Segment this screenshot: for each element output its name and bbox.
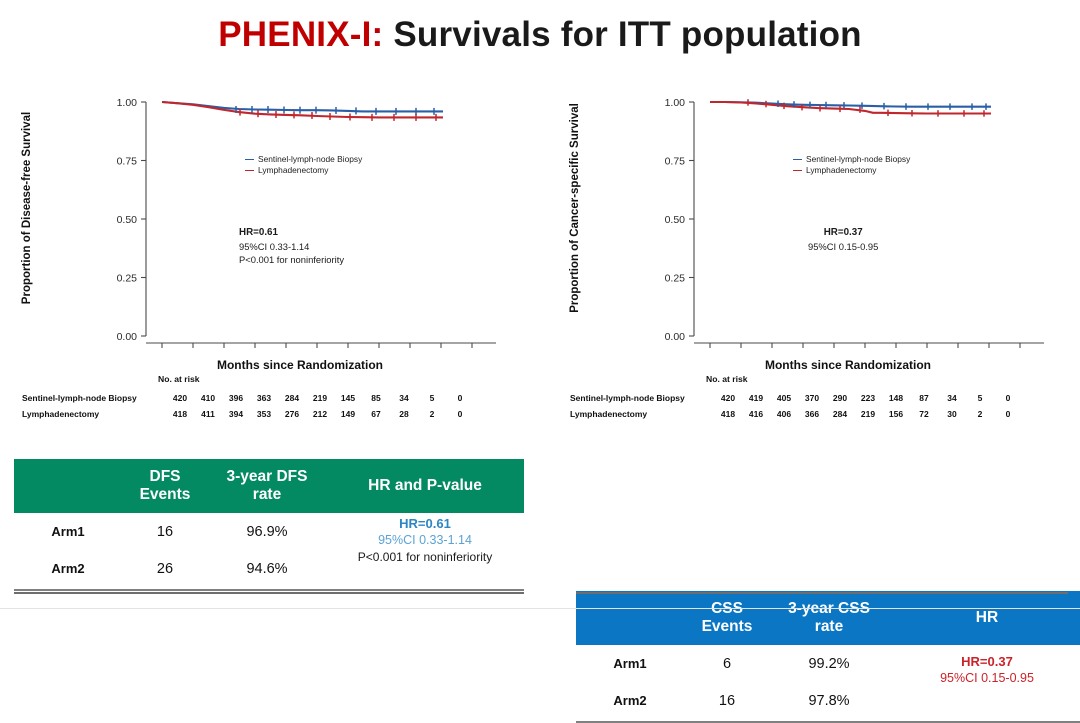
dfs-row1-rate: 96.9% [208,524,326,540]
css-legend-label-lymph: Lymphadenectomy [806,165,876,176]
risk-cell: 223 [854,390,882,406]
risk-cell: 149 [334,406,362,422]
css-legend-item-biopsy: Sentinel-lymph-node Biopsy [793,154,910,165]
risk-cell: 28 [390,406,418,422]
risk-cell: 219 [306,390,334,406]
risk-cell: 276 [278,406,306,422]
css-risk-title: No. at risk [706,374,748,384]
risk-cell: 0 [994,390,1022,406]
risk-cell: 396 [222,390,250,406]
css-risk-row-label-lymph: Lymphadenectomy [570,406,714,422]
css-legend-item-lymph: Lymphadenectomy [793,165,910,176]
css-row2-arm: Arm2 [576,693,684,708]
risk-cell: 5 [418,390,446,406]
svg-text:1.00: 1.00 [665,97,686,109]
css-hr-annotation: HR=0.37 95%CI 0.15-0.95 [808,226,878,253]
dfs-km-plot: 1.00 0.75 0.50 0.25 0.00 0 12 [100,88,500,353]
dfs-row1-events: 16 [122,524,208,540]
dfs-header-rate: 3-year DFS rate [208,468,326,504]
css-row2-events: 16 [684,693,770,709]
dfs-stat-ci: 95%CI 0.33-1.14 [326,532,524,549]
dfs-table-bottom-rule [14,592,524,594]
table-row: Sentinel-lymph-node Biopsy 420 419 405 3… [570,390,1022,406]
svg-text:60: 60 [311,351,323,353]
css-row1-rate: 99.2% [770,656,888,672]
risk-cell: 419 [742,390,770,406]
svg-text:72: 72 [342,351,354,353]
svg-text:1.00: 1.00 [117,97,138,109]
dfs-stat-block: HR=0.61 95%CI 0.33-1.14 P<0.001 for noni… [326,515,524,566]
svg-text:60: 60 [859,351,871,353]
css-stat-hr: HR=0.37 [888,653,1080,670]
risk-cell: 418 [714,406,742,422]
svg-text:36: 36 [797,351,809,353]
risk-cell: 394 [222,406,250,422]
legend-dash-red-icon [793,170,802,171]
risk-cell: 353 [250,406,278,422]
svg-text:12: 12 [187,351,199,353]
dfs-legend-item-biopsy: Sentinel-lymph-node Biopsy [245,154,362,165]
svg-text:120: 120 [463,351,481,353]
dfs-y-axis-label: Proportion of Disease-free Survival [16,78,38,338]
dfs-risk-row-label-lymph: Lymphadenectomy [22,406,166,422]
css-legend-label-biopsy: Sentinel-lymph-node Biopsy [806,154,910,165]
dfs-annotation-p: P<0.001 for noninferiority [239,253,344,267]
panel-dfs: Proportion of Disease-free Survival 1.00… [8,78,528,450]
slide: PHENIX-I: Survivals for ITT population P… [0,0,1080,618]
slide-bottom-edge [0,608,1080,609]
dfs-row1-arm: Arm1 [14,524,122,539]
risk-cell: 420 [714,390,742,406]
svg-text:0.25: 0.25 [665,273,686,285]
svg-text:72: 72 [890,351,902,353]
risk-cell: 156 [882,406,910,422]
dfs-row2-arm: Arm2 [14,561,122,576]
risk-cell: 148 [882,390,910,406]
risk-cell: 85 [362,390,390,406]
risk-cell: 219 [854,406,882,422]
dfs-risk-row-label-biopsy: Sentinel-lymph-node Biopsy [22,390,166,406]
css-legend: Sentinel-lymph-node Biopsy Lymphadenecto… [793,154,910,176]
dfs-stat-p: P<0.001 for noninferiority [326,549,524,566]
svg-text:0.75: 0.75 [117,156,138,168]
risk-cell: 370 [798,390,826,406]
table-row: Lymphadenectomy 418 411 394 353 276 212 … [22,406,474,422]
risk-cell: 363 [250,390,278,406]
dfs-hr-annotation: HR=0.61 95%CI 0.33-1.14 P<0.001 for noni… [239,226,344,267]
dfs-legend-item-lymph: Lymphadenectomy [245,165,362,176]
risk-cell: 5 [966,390,994,406]
risk-cell: 0 [446,406,474,422]
dfs-row2-rate: 94.6% [208,561,326,577]
svg-text:0.00: 0.00 [117,331,138,343]
risk-cell: 72 [910,406,938,422]
svg-text:96: 96 [952,351,964,353]
risk-cell: 405 [770,390,798,406]
dfs-results-header: DFS Events 3-year DFS rate HR and P-valu… [14,459,524,513]
dfs-legend-label-biopsy: Sentinel-lymph-node Biopsy [258,154,362,165]
dfs-legend-label-lymph: Lymphadenectomy [258,165,328,176]
css-km-svg: 1.00 0.75 0.50 0.25 0.00 0 12 24 36 48 6… [648,88,1048,353]
legend-dash-red-icon [245,170,254,171]
risk-cell: 87 [910,390,938,406]
svg-text:12: 12 [735,351,747,353]
svg-text:24: 24 [218,351,230,353]
svg-text:84: 84 [373,351,385,353]
risk-cell: 284 [826,406,854,422]
risk-cell: 0 [994,406,1022,422]
risk-cell: 366 [798,406,826,422]
title-rest: Survivals for ITT population [383,15,861,54]
table-row: Sentinel-lymph-node Biopsy 420 410 396 3… [22,390,474,406]
dfs-plot-area: Proportion of Disease-free Survival 1.00… [8,78,528,378]
css-row1-arm: Arm1 [576,656,684,671]
risk-cell: 67 [362,406,390,422]
dfs-km-svg: 1.00 0.75 0.50 0.25 0.00 0 12 [100,88,500,353]
svg-text:0.75: 0.75 [665,156,686,168]
css-y-axis-label: Proportion of Cancer-specific Survival [564,78,586,338]
dfs-risk-title: No. at risk [158,374,200,384]
risk-cell: 2 [418,406,446,422]
css-annotation-hr: HR=0.37 [808,226,878,240]
svg-text:36: 36 [249,351,261,353]
css-header-hr: HR [888,609,1080,627]
risk-cell: 2 [966,406,994,422]
risk-cell: 34 [390,390,418,406]
page-title: PHENIX-I: Survivals for ITT population [0,8,1080,62]
svg-text:0: 0 [159,351,165,353]
svg-text:120: 120 [1011,351,1029,353]
svg-text:24: 24 [766,351,778,353]
css-results-table: CSS Events 3-year CSS rate HR Arm1 6 99.… [576,591,1080,723]
risk-cell: 290 [826,390,854,406]
dfs-stat-hr: HR=0.61 [326,515,524,532]
svg-text:0.00: 0.00 [665,331,686,343]
svg-text:0.50: 0.50 [117,214,138,226]
dfs-annotation-hr: HR=0.61 [239,226,344,240]
css-plot-area: Proportion of Cancer-specific Survival 1… [556,78,1076,378]
risk-cell: 212 [306,406,334,422]
table-row: Lymphadenectomy 418 416 406 366 284 219 … [570,406,1022,422]
dfs-legend: Sentinel-lymph-node Biopsy Lymphadenecto… [245,154,362,176]
risk-cell: 30 [938,406,966,422]
panel-css: Proportion of Cancer-specific Survival 1… [556,78,1076,450]
title-highlight: PHENIX-I: [218,15,383,54]
css-table-bottom-rule [576,592,1068,594]
dfs-annotation-ci: 95%CI 0.33-1.14 [239,240,344,254]
risk-cell: 410 [194,390,222,406]
svg-text:0: 0 [707,351,713,353]
css-row2-rate: 97.8% [770,693,888,709]
css-km-plot: 1.00 0.75 0.50 0.25 0.00 0 12 24 36 48 6… [648,88,1048,353]
risk-cell: 420 [166,390,194,406]
svg-text:108: 108 [432,351,450,353]
css-risk-row-label-biopsy: Sentinel-lymph-node Biopsy [570,390,714,406]
risk-cell: 418 [166,406,194,422]
svg-text:48: 48 [828,351,840,353]
risk-cell: 416 [742,406,770,422]
svg-text:96: 96 [404,351,416,353]
svg-text:108: 108 [980,351,998,353]
risk-cell: 284 [278,390,306,406]
dfs-results-table: DFS Events 3-year DFS rate HR and P-valu… [14,459,524,591]
dfs-header-hr: HR and P-value [326,477,524,495]
risk-cell: 411 [194,406,222,422]
css-header-rate: 3-year CSS rate [770,600,888,636]
risk-cell: 0 [446,390,474,406]
risk-cell: 34 [938,390,966,406]
css-row1-events: 6 [684,656,770,672]
css-header-events: CSS Events [684,600,770,636]
risk-cell: 406 [770,406,798,422]
svg-text:0.50: 0.50 [665,214,686,226]
css-stat-block: HR=0.37 95%CI 0.15-0.95 [888,653,1080,687]
css-results-header: CSS Events 3-year CSS rate HR [576,591,1080,645]
dfs-x-axis-label: Months since Randomization [100,358,500,372]
legend-dash-blue-icon [245,159,254,160]
dfs-row2-events: 26 [122,561,208,577]
css-x-axis-label: Months since Randomization [648,358,1048,372]
svg-text:0.25: 0.25 [117,273,138,285]
dfs-header-events: DFS Events [122,468,208,504]
legend-dash-blue-icon [793,159,802,160]
svg-text:48: 48 [280,351,292,353]
css-stat-ci: 95%CI 0.15-0.95 [888,670,1080,687]
svg-text:84: 84 [921,351,933,353]
table-row: Arm2 16 97.8% [576,682,1080,719]
risk-cell: 145 [334,390,362,406]
css-annotation-ci: 95%CI 0.15-0.95 [808,240,878,254]
